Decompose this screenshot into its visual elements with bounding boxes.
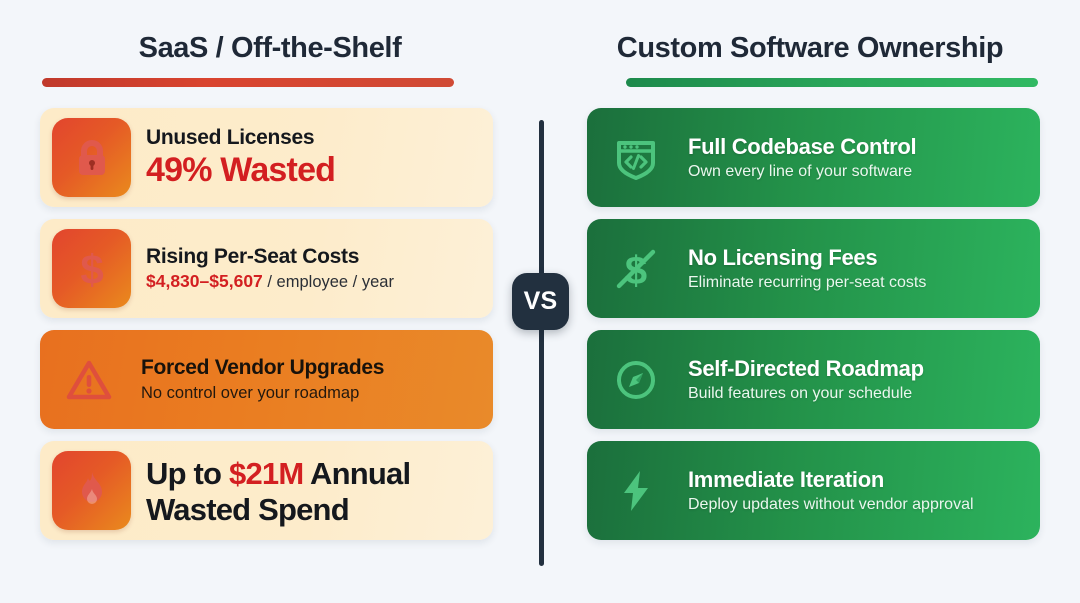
- card-self-directed-roadmap-title: Self-Directed Roadmap: [688, 356, 1028, 382]
- card-rising-per-seat-costs-body: Rising Per-Seat Costs $4,830–$5,607 / em…: [146, 245, 481, 294]
- card-forced-vendor-upgrades-title: Forced Vendor Upgrades: [141, 356, 481, 381]
- lock-icon: [52, 118, 131, 197]
- warning-triangle-icon: [52, 343, 126, 417]
- card-annual-wasted-spend-post: Annual: [303, 456, 410, 491]
- card-rising-per-seat-costs-title: Rising Per-Seat Costs: [146, 245, 481, 270]
- card-full-codebase-control-sub: Own every line of your software: [688, 162, 1028, 182]
- card-rising-per-seat-costs-value: $4,830–$5,607: [146, 271, 263, 291]
- card-no-licensing-fees-sub: Eliminate recurring per-seat costs: [688, 273, 1028, 293]
- left-column-header: SaaS / Off-the-Shelf: [0, 32, 540, 87]
- right-card-stack: Full Codebase Control Own every line of …: [540, 108, 1080, 540]
- card-annual-wasted-spend-headline-line2: Wasted Spend: [146, 492, 481, 527]
- card-immediate-iteration[interactable]: Immediate Iteration Deploy updates witho…: [587, 441, 1040, 540]
- card-full-codebase-control[interactable]: Full Codebase Control Own every line of …: [587, 108, 1040, 207]
- card-rising-per-seat-costs[interactable]: $ Rising Per-Seat Costs $4,830–$5,607 / …: [40, 219, 493, 318]
- card-self-directed-roadmap-body: Self-Directed Roadmap Build features on …: [688, 356, 1028, 404]
- right-column-title: Custom Software Ownership: [580, 32, 1040, 65]
- svg-text:$: $: [80, 246, 103, 293]
- card-rising-per-seat-costs-unit: / employee / year: [263, 273, 394, 291]
- card-no-licensing-fees[interactable]: $ No Licensing Fees Eliminate recurring …: [587, 219, 1040, 318]
- center-divider: [539, 120, 544, 566]
- card-unused-licenses[interactable]: Unused Licenses 49% Wasted: [40, 108, 493, 207]
- card-unused-licenses-title: Unused Licenses: [146, 126, 481, 151]
- card-unused-licenses-headline: 49% Wasted: [146, 152, 481, 189]
- left-card-stack: Unused Licenses 49% Wasted $ Rising Per-…: [0, 108, 540, 540]
- card-unused-licenses-value: 49% Wasted: [146, 151, 335, 189]
- card-annual-wasted-spend-body: Up to $21M Annual Wasted Spend: [146, 455, 481, 527]
- card-immediate-iteration-sub: Deploy updates without vendor approval: [688, 495, 1028, 515]
- card-rising-per-seat-costs-sub: $4,830–$5,607 / employee / year: [146, 271, 481, 293]
- card-self-directed-roadmap[interactable]: Self-Directed Roadmap Build features on …: [587, 330, 1040, 429]
- right-column-custom: Custom Software Ownership: [540, 0, 1080, 603]
- card-forced-vendor-upgrades[interactable]: Forced Vendor Upgrades No control over y…: [40, 330, 493, 429]
- no-dollar-icon: $: [599, 232, 673, 306]
- right-column-header: Custom Software Ownership: [540, 32, 1080, 87]
- left-column-title: SaaS / Off-the-Shelf: [40, 32, 500, 65]
- card-annual-wasted-spend[interactable]: Up to $21M Annual Wasted Spend: [40, 441, 493, 540]
- card-full-codebase-control-title: Full Codebase Control: [688, 134, 1028, 160]
- card-forced-vendor-upgrades-body: Forced Vendor Upgrades No control over y…: [141, 356, 481, 403]
- card-annual-wasted-spend-pre: Up to: [146, 456, 229, 491]
- card-annual-wasted-spend-headline: Up to $21M Annual: [146, 456, 481, 491]
- comparison-board: SaaS / Off-the-Shelf Unused Licenses: [0, 0, 1080, 603]
- left-column-rule: [42, 78, 454, 87]
- card-immediate-iteration-body: Immediate Iteration Deploy updates witho…: [688, 467, 1028, 515]
- compass-icon: [599, 343, 673, 417]
- card-self-directed-roadmap-sub: Build features on your schedule: [688, 384, 1028, 404]
- flame-icon: [52, 451, 131, 530]
- card-immediate-iteration-title: Immediate Iteration: [688, 467, 1028, 493]
- card-no-licensing-fees-body: No Licensing Fees Eliminate recurring pe…: [688, 245, 1028, 293]
- vs-badge: VS: [512, 273, 569, 330]
- card-unused-licenses-body: Unused Licenses 49% Wasted: [146, 126, 481, 189]
- card-no-licensing-fees-title: No Licensing Fees: [688, 245, 1028, 271]
- left-column-saas: SaaS / Off-the-Shelf Unused Licenses: [0, 0, 540, 603]
- dollar-sign-icon: $: [52, 229, 131, 308]
- card-full-codebase-control-body: Full Codebase Control Own every line of …: [688, 134, 1028, 182]
- lightning-bolt-icon: [599, 454, 673, 528]
- card-forced-vendor-upgrades-sub: No control over your roadmap: [141, 383, 481, 404]
- card-annual-wasted-spend-amount: $21M: [229, 456, 303, 491]
- code-shield-icon: [599, 121, 673, 195]
- right-column-rule: [626, 78, 1038, 87]
